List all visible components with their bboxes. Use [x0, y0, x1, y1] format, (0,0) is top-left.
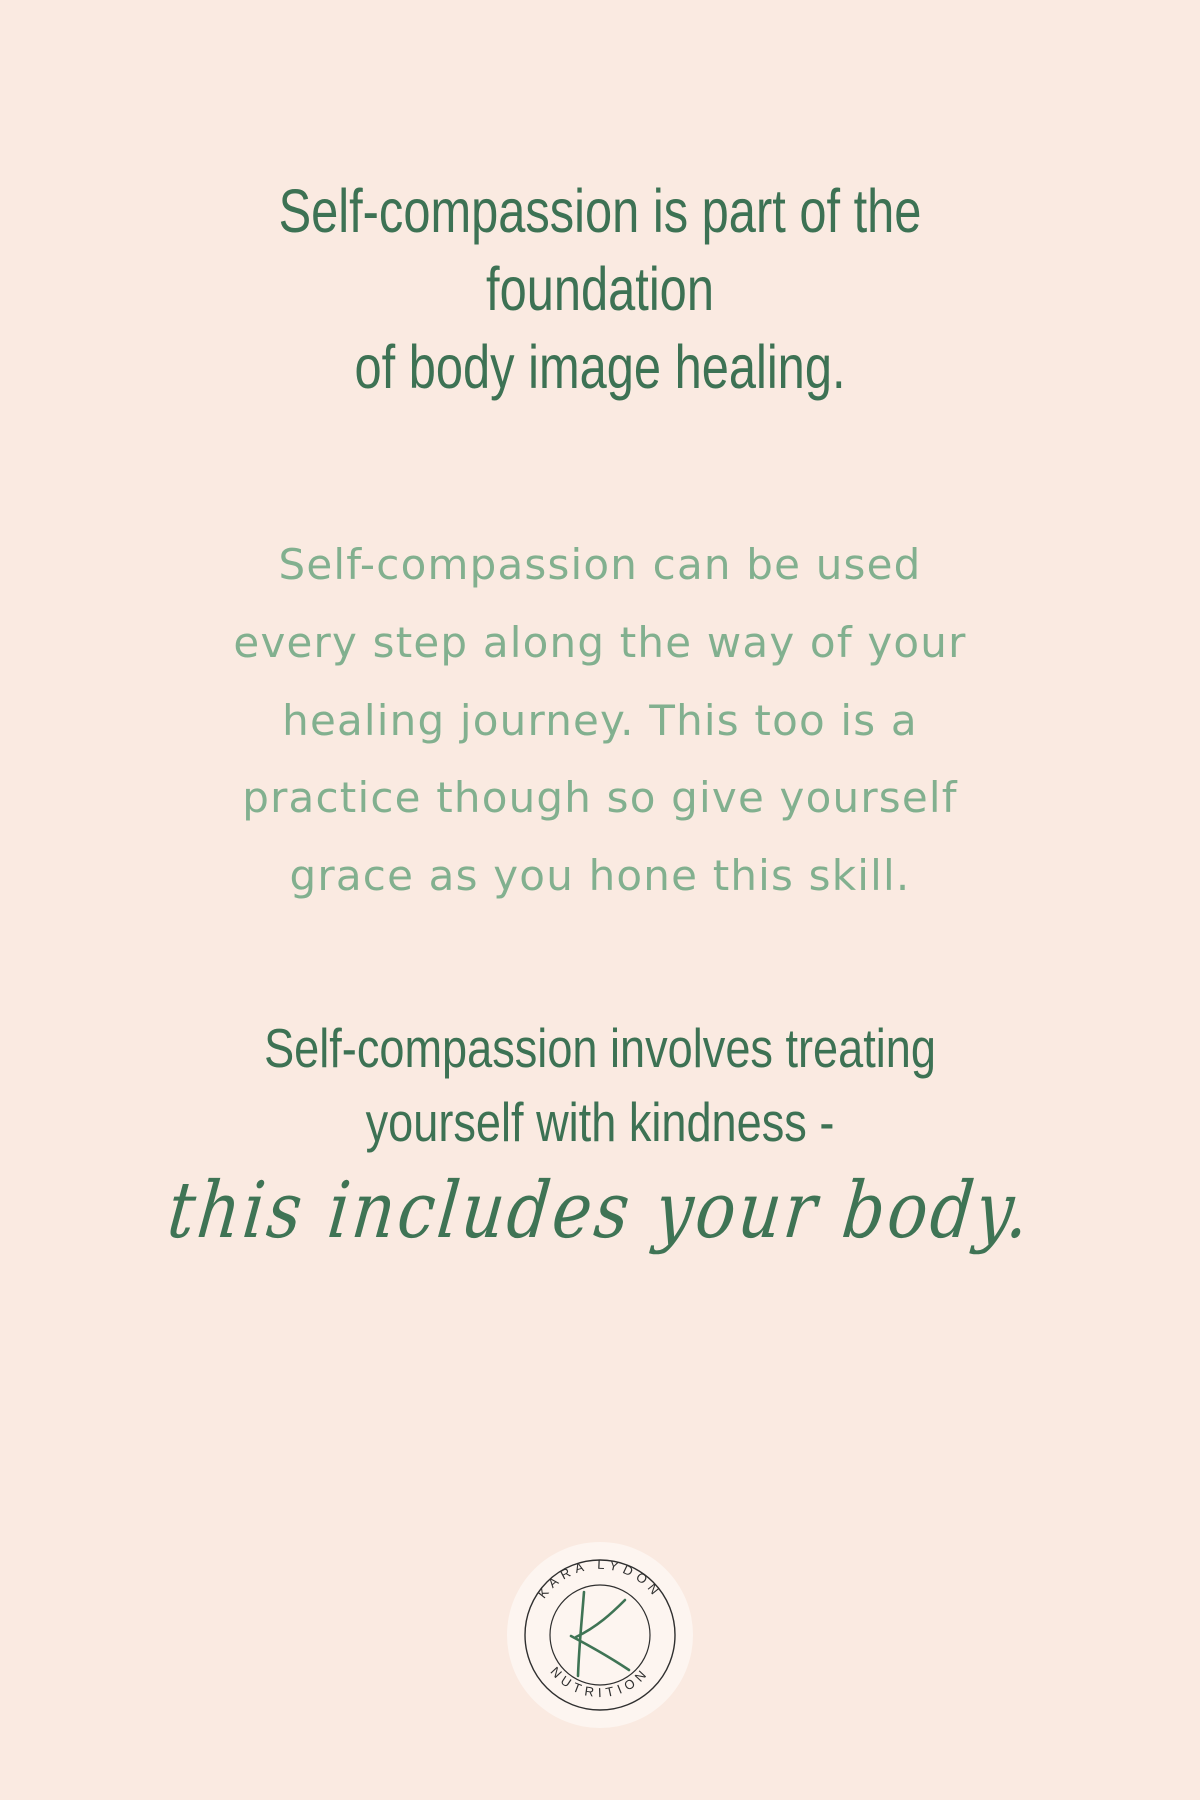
- subheading: Self-compassion involves treating yourse…: [231, 1011, 969, 1160]
- poster-canvas: Self-compassion is part of the foundatio…: [0, 0, 1200, 1800]
- page-title: Self-compassion is part of the foundatio…: [220, 172, 980, 406]
- body-paragraph: Self-compassion can be used every step a…: [120, 526, 1080, 914]
- brand-logo: KARA LYDON NUTRITION: [505, 1540, 695, 1730]
- script-accent-line: this includes your body.: [95, 1169, 1104, 1255]
